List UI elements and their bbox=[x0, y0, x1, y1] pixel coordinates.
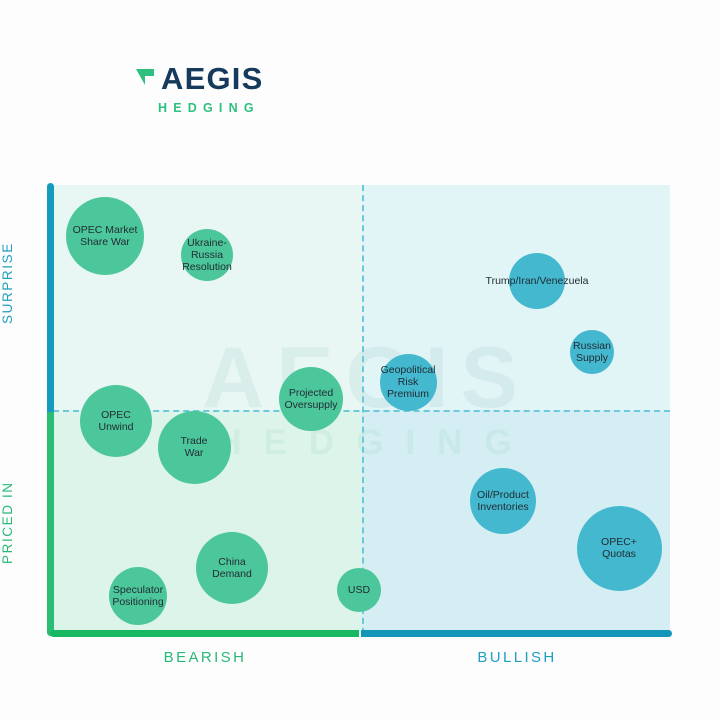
bubble-oil-product-inventories[interactable]: Oil/Product Inventories bbox=[470, 468, 536, 534]
aegis-logo: AEGIS HEDGING bbox=[133, 63, 263, 115]
bubble-label: Projected Oversupply bbox=[284, 387, 337, 411]
bubble-opec-quotas[interactable]: OPEC+ Quotas bbox=[577, 506, 662, 591]
bubble-label: Trade War bbox=[180, 435, 207, 459]
y-axis-label-surprise: SURPRISE bbox=[0, 228, 40, 338]
bubble-label: USD bbox=[348, 584, 370, 596]
bubble-label: OPEC Market Share War bbox=[73, 224, 138, 248]
bubble-projected-oversupply[interactable]: Projected Oversupply bbox=[279, 367, 343, 431]
bubble-label: OPEC+ Quotas bbox=[601, 536, 637, 560]
bubble-trade-war[interactable]: Trade War bbox=[158, 411, 231, 484]
bubble-ukraine-russia-resolution[interactable]: Ukraine-Russia Resolution bbox=[181, 229, 233, 281]
bubble-label: Oil/Product Inventories bbox=[477, 489, 529, 513]
bubble-opec-unwind[interactable]: OPEC Unwind bbox=[80, 385, 152, 457]
quadrant-plot-area: AEGIS HEDGING OPEC Market Share WarUkrai… bbox=[53, 185, 670, 634]
x-axis-bearish-segment bbox=[50, 630, 359, 637]
bubble-usd[interactable]: USD bbox=[337, 568, 381, 612]
x-axis-label-bullish: BULLISH bbox=[372, 649, 662, 666]
bubble-label: OPEC Unwind bbox=[98, 409, 133, 433]
oil-market-risk-matrix: AEGIS HEDGING AEGIS HEDGING OPEC Market … bbox=[0, 0, 720, 720]
y-axis bbox=[47, 183, 54, 636]
bubble-trump-iran-venezuela[interactable]: Trump/Iran/Venezuela bbox=[509, 253, 565, 309]
bubble-label: Trump/Iran/Venezuela bbox=[486, 275, 589, 287]
aegis-arrow-mark-icon bbox=[133, 66, 157, 92]
bubble-label: Geopolitical Risk Premium bbox=[381, 364, 436, 400]
bubble-label: Russian Supply bbox=[573, 340, 611, 364]
bubble-geopolitical-risk-premium[interactable]: Geopolitical Risk Premium bbox=[380, 354, 437, 411]
y-axis-label-priced-in: PRICED IN bbox=[0, 468, 40, 578]
logo-wordmark: AEGIS bbox=[161, 63, 263, 94]
logo-tagline: HEDGING bbox=[158, 101, 263, 115]
x-axis bbox=[50, 630, 672, 637]
bubble-label: Ukraine-Russia Resolution bbox=[181, 237, 233, 273]
bubble-speculator-positioning[interactable]: Speculator Positioning bbox=[109, 567, 167, 625]
x-axis-label-bearish: BEARISH bbox=[60, 649, 350, 666]
bubble-russian-supply[interactable]: Russian Supply bbox=[570, 330, 614, 374]
bubble-label: China Demand bbox=[212, 556, 252, 580]
y-axis-surprise-segment bbox=[47, 183, 54, 412]
y-axis-priced-in-segment bbox=[47, 412, 54, 636]
x-axis-bullish-segment bbox=[361, 630, 672, 637]
bubble-label: Speculator Positioning bbox=[112, 584, 163, 608]
bubble-china-demand[interactable]: China Demand bbox=[196, 532, 268, 604]
bubble-opec-market-share-war[interactable]: OPEC Market Share War bbox=[66, 197, 144, 275]
